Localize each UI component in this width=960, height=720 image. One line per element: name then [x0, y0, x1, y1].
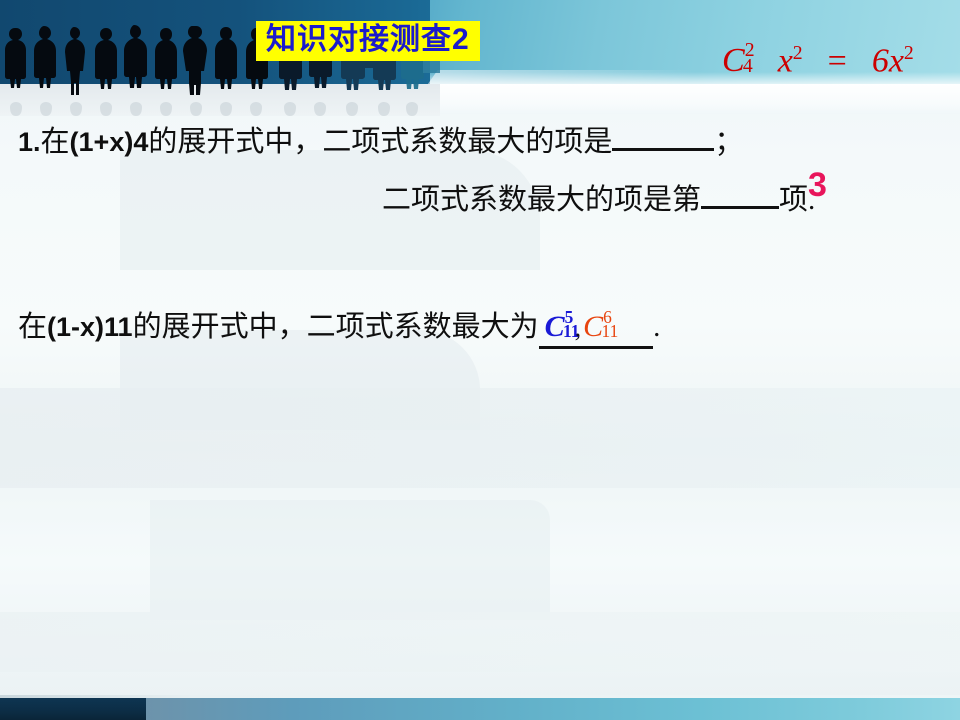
background-band-lower: [0, 612, 960, 672]
bottom-bar-dark-segment: [0, 698, 146, 720]
question-1-trailing: ；: [714, 126, 743, 158]
question-3-exponent: 11: [104, 312, 133, 342]
top-right-formula: C24 x2 = 6x2: [722, 42, 914, 80]
formula-c-subscript: 4: [743, 55, 753, 78]
question-1-body-text: 的展开式中，二项式系数最大的项是: [148, 126, 612, 158]
answer-orange-subscript: 11: [602, 321, 619, 342]
formula-x-exponent: 2: [793, 42, 803, 64]
answer-blue-c-base: C: [545, 310, 565, 343]
bottom-bar-gradient-segment: [146, 698, 960, 720]
question-1-line-2: 二项式系数最大的项是第项.: [382, 176, 815, 218]
question-2-line: 在(1-x)11的展开式中，二项式系数最大为C511,C611.: [18, 303, 660, 349]
question-3-expression: (1-x): [47, 312, 104, 342]
question-3-body-text: 的展开式中，二项式系数最大为: [133, 311, 539, 343]
question-1-line-1: 1.在(1+x)4的展开式中，二项式系数最大的项是；: [18, 118, 743, 160]
formula-equals-sign: =: [828, 42, 847, 79]
question-2-body-text: 二项式系数最大的项是第: [382, 184, 701, 216]
formula-combination-symbol: C24: [722, 42, 745, 80]
answer-combination-orange: C611: [583, 310, 603, 344]
question-1-exponent: 4: [133, 127, 148, 157]
formula-c-base: C: [722, 42, 745, 79]
answer-blank-2[interactable]: [701, 180, 779, 209]
page-title: 知识对接测查2: [266, 25, 470, 55]
formula-rhs-exponent: 2: [904, 42, 914, 64]
answer-orange-c-base: C: [583, 310, 603, 343]
answer-value-3: 3: [808, 168, 827, 202]
background-band-upper: [0, 388, 960, 488]
answer-combination-blue: C511: [545, 310, 565, 344]
bottom-bar: [0, 698, 960, 720]
question-3-lead-text: 在: [18, 311, 47, 343]
question-1-expression: (1+x): [70, 127, 134, 157]
background-watermark-shape-3: [150, 500, 550, 620]
slide-title-box: 知识对接测查2: [256, 21, 480, 61]
question-3-trailing: .: [653, 311, 660, 343]
formula-x-variable: x: [778, 42, 793, 79]
answer-blank-1[interactable]: [612, 122, 714, 151]
answer-blue-subscript: 11: [563, 321, 579, 342]
answer-blank-3[interactable]: C511,C611: [539, 310, 654, 349]
formula-rhs-coefficient: 6: [872, 42, 889, 79]
question-1-lead-text: 在: [41, 126, 70, 158]
formula-rhs-variable: x: [889, 42, 904, 79]
slide-canvas: 知识对接测查2 C24 x2 = 6x2 1.在(1+x)4的展开式中，二项式系…: [0, 0, 960, 720]
question-number: 1.: [18, 127, 41, 157]
